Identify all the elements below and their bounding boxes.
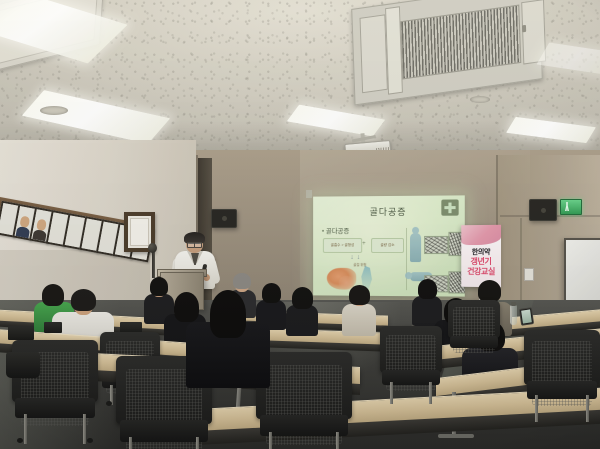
wall-speaker-right xyxy=(529,199,557,221)
floor-bag xyxy=(6,352,40,378)
attendee-dark-4 xyxy=(286,290,318,334)
attendee-hair xyxy=(349,285,370,305)
water-bottle[interactable] xyxy=(510,305,517,325)
ceiling-sprinkler xyxy=(470,96,490,103)
desk-item xyxy=(44,322,62,333)
attendee-hair xyxy=(233,273,251,289)
slide-arrow-label: 골절 위험 xyxy=(353,262,366,267)
projection-screen: 골다공증 골다공증 골흡수 > 골형성 + 골량 감소 ↓↓ 골절 위험 xyxy=(313,195,465,296)
lecture-room-photo: 골다공증 골다공증 골흡수 > 골형성 + 골량 감소 ↓↓ 골절 위험 한의약… xyxy=(0,0,600,449)
cross-icon xyxy=(444,202,455,213)
desk-item-bag xyxy=(8,326,34,340)
bottle-cap xyxy=(511,302,516,306)
power-outlet xyxy=(524,268,534,281)
ac-indicator-led xyxy=(522,25,526,33)
attendee-foreground-center xyxy=(186,290,270,386)
slide-bullet-text: 골다공증 xyxy=(322,225,349,235)
chair[interactable] xyxy=(524,330,600,418)
attendee-torso xyxy=(286,305,318,336)
wall-seam-vertical xyxy=(520,218,522,313)
smartphone[interactable] xyxy=(519,307,534,326)
chair[interactable] xyxy=(448,300,500,362)
attendee-hair xyxy=(478,280,501,302)
microphone-head xyxy=(148,243,157,253)
wall-speaker-left xyxy=(211,209,237,228)
rollup-banner: 한의약 갱년기 건강교실 xyxy=(461,225,501,287)
slide-box-right: 골량 감소 xyxy=(371,238,404,253)
banner-line-3: 건강교실 xyxy=(461,266,501,277)
chair[interactable] xyxy=(256,352,352,449)
attendee-hair xyxy=(418,279,437,299)
slide-box-left-label: 골흡수 > 골형성 xyxy=(324,239,361,252)
slide-figure-standing-icon xyxy=(410,233,421,262)
slide-plus-symbol: + xyxy=(362,241,365,247)
microphone-stand xyxy=(152,250,155,278)
attendee-hair xyxy=(71,289,96,311)
attendee-hair xyxy=(210,290,246,338)
phone-screen xyxy=(521,309,532,323)
exit-sign xyxy=(560,199,582,215)
slide-xray-panel xyxy=(424,236,448,254)
attendee-hair xyxy=(292,287,313,309)
green-cross-health-logo xyxy=(441,199,458,215)
slide-box-left: 골흡수 > 골형성 xyxy=(323,238,362,253)
slide-divider xyxy=(406,228,407,290)
attendee-beige-top xyxy=(342,288,376,334)
attendee-torso xyxy=(342,304,376,336)
slide-down-arrows: ↓↓ xyxy=(350,254,363,261)
desk-foot xyxy=(438,434,474,438)
chair[interactable] xyxy=(380,326,442,402)
ceiling-speaker-disc xyxy=(40,106,68,115)
banner-header-graphic xyxy=(461,225,501,245)
screen-housing xyxy=(306,190,312,198)
exit-running-man-icon xyxy=(565,202,569,211)
slide-box-right-label: 골량 감소 xyxy=(372,239,403,252)
presenter-glasses xyxy=(187,242,202,246)
